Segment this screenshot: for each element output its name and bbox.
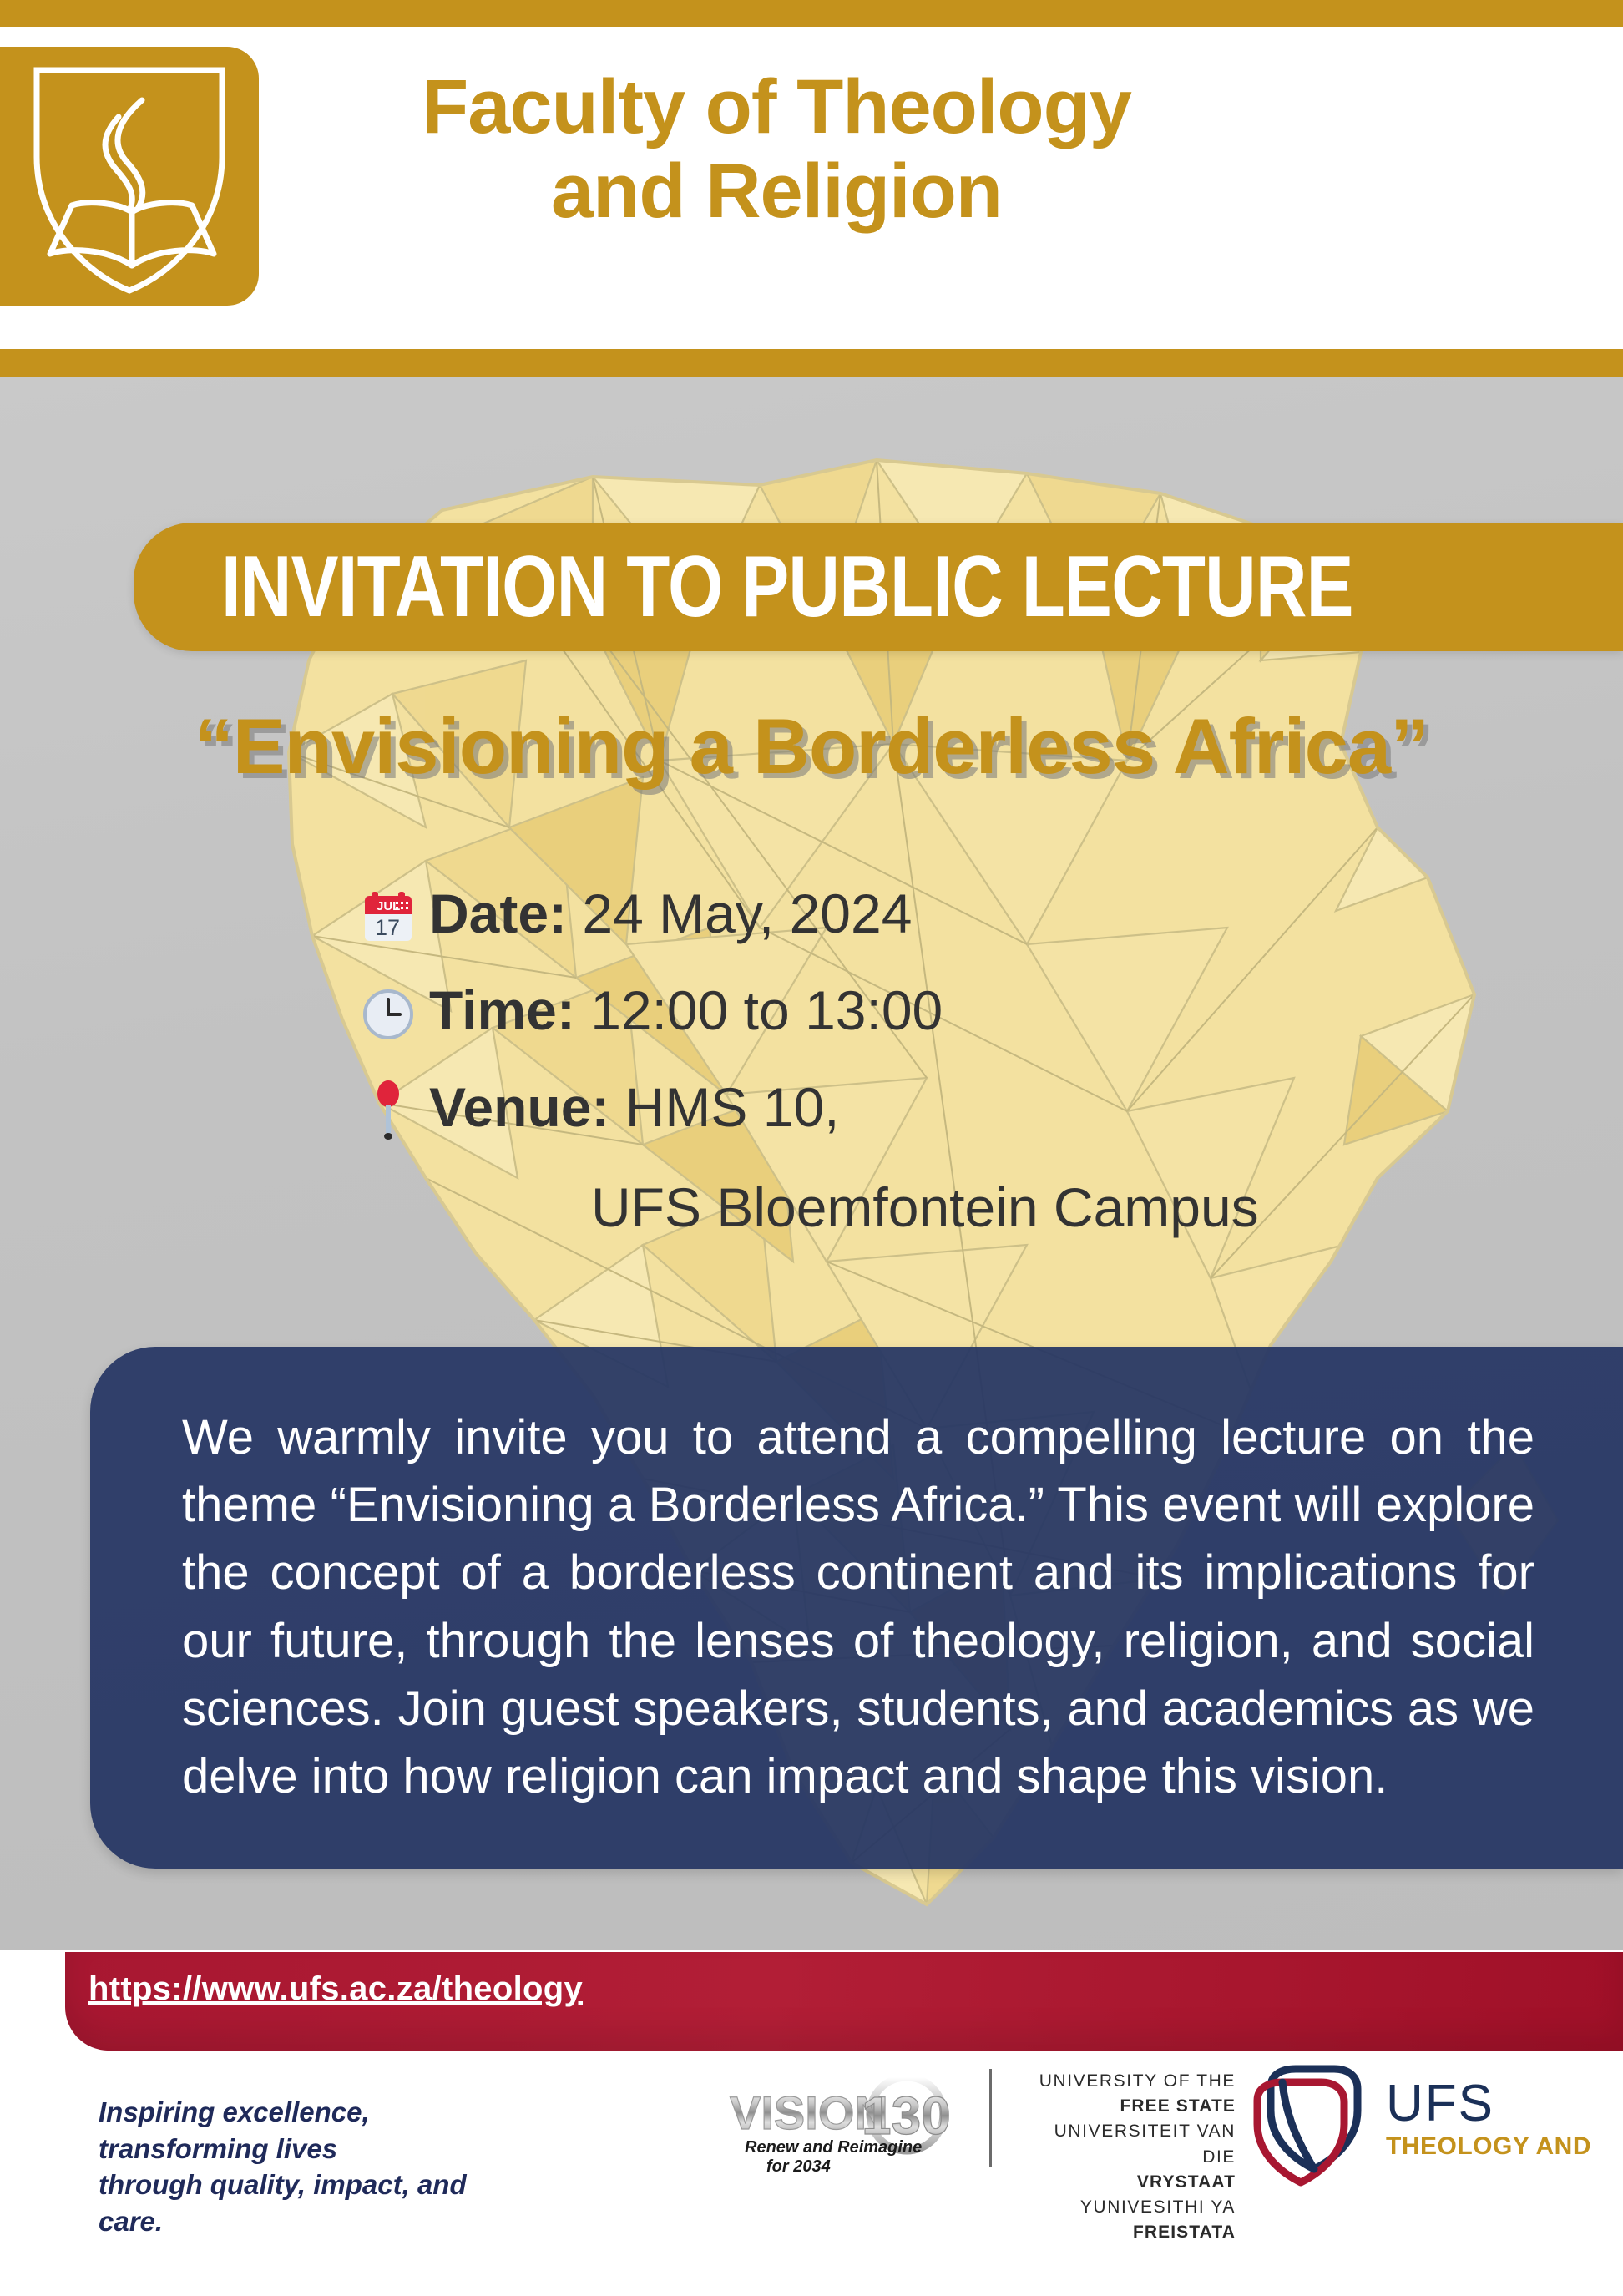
svg-text:JUL: JUL [377,899,400,913]
vision-strapline-2: for 2034 [766,2157,831,2176]
invitation-banner: INVITATION TO PUBLIC LECTURE [134,523,1623,651]
map-pin-icon [359,1082,417,1140]
detail-date-text: Date: 24 May, 2024 [417,885,912,943]
detail-date-label: Date: [429,882,567,944]
footer-divider [989,2069,992,2167]
clock-icon [359,985,417,1044]
footer-tagline: Inspiring excellence, transforming lives… [99,2094,533,2239]
header-gold-bar-bottom [0,349,1623,377]
university-names: UNIVERSITY OF THE FREE STATE UNIVERSITEI… [1017,2069,1236,2246]
detail-time-label: Time: [429,979,575,1041]
detail-row-date: JUL 17 Date: 24 May, 2024 [359,885,1528,947]
header-gold-bar-top [0,0,1623,27]
uni-name-line-0: UNIVERSITY OF THE [1017,2069,1236,2094]
url-bar: https://www.ufs.ac.za/theology [65,1952,1623,2051]
uni-name-line-3: VRYSTAAT [1017,2170,1236,2195]
description-text: We warmly invite you to attend a compell… [182,1403,1535,1810]
svg-text:17: 17 [375,915,400,940]
vision-strapline-1: Renew and Reimagine [745,2138,922,2157]
ufs-wordmark: UFS [1386,2075,1494,2132]
detail-venue-value-line2: UFS Bloemfontein Campus [591,1176,1528,1239]
faculty-shield-block [0,47,259,306]
uni-name-line-4: YUNIVESITHI YA [1017,2195,1236,2220]
description-box: We warmly invite you to attend a compell… [90,1347,1623,1869]
detail-time-value: 12:00 to 13:00 [590,979,943,1041]
faculty-title: Faculty of Theology and Religion [276,65,1277,234]
website-url-link[interactable]: https://www.ufs.ac.za/theology [88,1970,583,2008]
ufs-subtitle: THEOLOGY AND RELIGION [1386,2132,1596,2160]
uni-name-line-2: UNIVERSITEIT VAN DIE [1017,2119,1236,2169]
ufs-interlocking-shield-icon [1257,2069,1358,2182]
detail-time-text: Time: 12:00 to 13:00 [417,982,943,1039]
calendar-icon: JUL 17 [359,888,417,947]
detail-date-value: 24 May, 2024 [582,882,912,944]
detail-row-venue: Venue: HMS 10, [359,1079,1528,1140]
vision130-logo: VISION 130 Renew and Reimagine for 2034 [726,2071,977,2182]
vision-number: 130 [862,2086,951,2146]
uni-name-line-5: FREISTATA [1017,2220,1236,2245]
detail-venue-text: Venue: HMS 10, [417,1079,840,1136]
detail-venue-label: Venue: [429,1076,609,1138]
footer: Inspiring excellence, transforming lives… [0,2051,1623,2296]
event-details: JUL 17 Date: 24 May, 2024 [359,885,1528,1239]
detail-row-time: Time: 12:00 to 13:00 [359,982,1528,1044]
ufs-theology-logo: UFS THEOLOGY AND RELIGION [1246,2057,1596,2212]
lecture-theme-title: “Envisioning a Borderless Africa” [0,701,1623,791]
detail-venue-value: HMS 10, [625,1076,840,1138]
poster-root: Faculty of Theology and Religion [0,0,1623,2296]
invitation-banner-label: INVITATION TO PUBLIC LECTURE [221,538,1353,637]
ufs-shield-flame-book-icon [17,57,242,299]
uni-name-line-1: FREE STATE [1017,2094,1236,2119]
